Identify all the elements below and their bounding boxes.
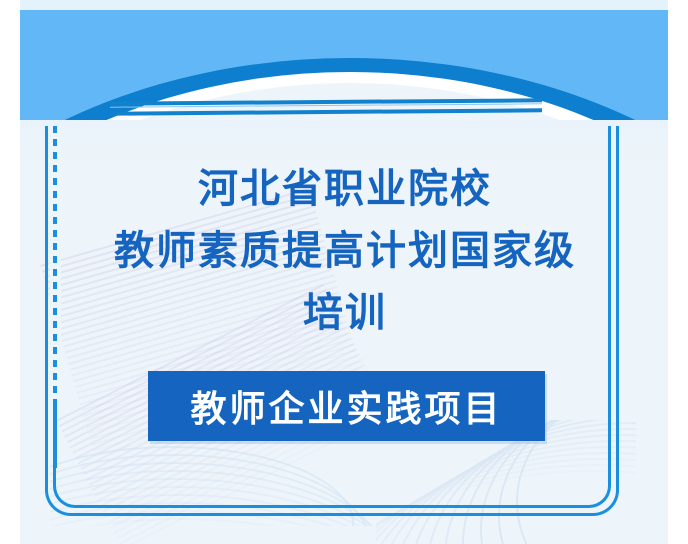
poster-canvas: 河北省职业院校 教师素质提高计划国家级 培训 教师企业实践项目 (0, 0, 688, 544)
subtitle-banner: 教师企业实践项目 (148, 371, 545, 441)
frame-left-solid-rail (53, 400, 57, 468)
page-title-line-3: 培训 (60, 282, 630, 344)
page-title: 河北省职业院校 教师素质提高计划国家级 培训 (60, 158, 630, 344)
subtitle-banner-label: 教师企业实践项目 (190, 380, 502, 432)
page-title-line-2: 教师素质提高计划国家级 (60, 220, 630, 282)
wave-line (50, 518, 380, 526)
frame-left-dashed-rail (53, 126, 57, 402)
page-title-line-1: 河北省职业院校 (60, 158, 630, 220)
